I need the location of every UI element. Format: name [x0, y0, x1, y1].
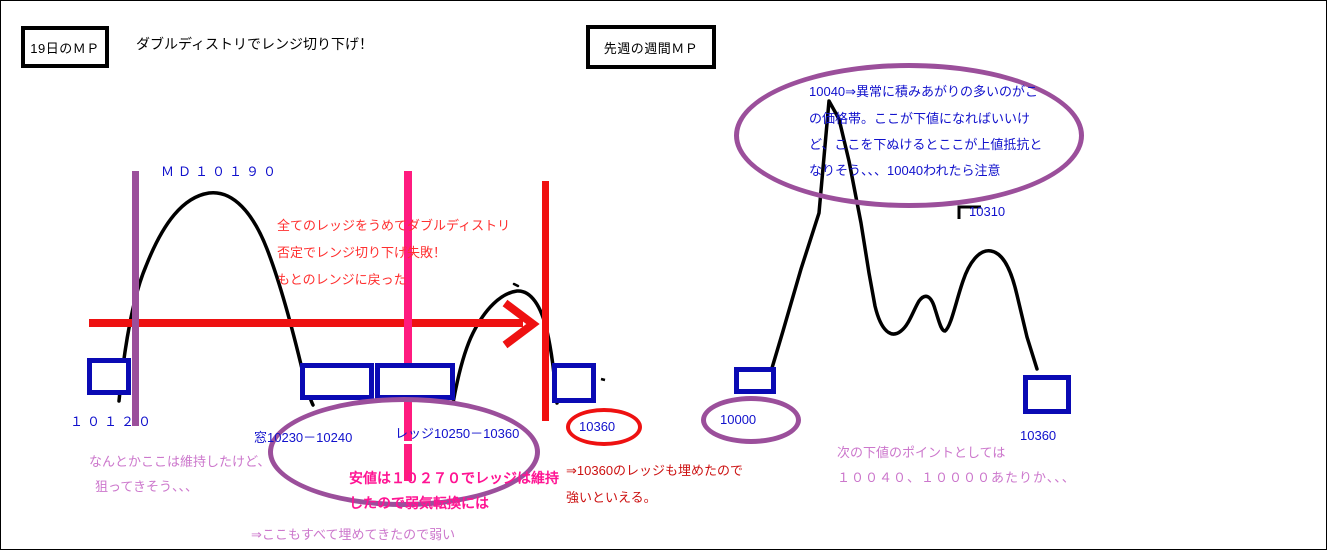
profile-box-ledge	[375, 363, 455, 400]
title-box-weekly: 先週の週間ＭＰ	[586, 25, 716, 69]
label-window-range: 窓10230－10240	[254, 427, 352, 446]
note-purple-ellipse-line-3: ど、ここを下ぬけるとここが上値抵抗と	[809, 132, 1042, 158]
note-red-line-2: 否定でレンジ切り下げ失敗！	[277, 240, 446, 266]
vline-red-10360	[542, 181, 549, 421]
note-purple-ellipse-line-2: の価格帯。ここが下値になればいいけ	[809, 106, 1030, 132]
label-10310: 10310	[969, 204, 1005, 219]
note-right-violet-line-1: 次の下値のポイントとしては	[837, 440, 1005, 466]
note-pink-line-1: 安値は１０２７０でレッジは維持	[349, 465, 559, 491]
mpbox-4-outer-tick	[601, 379, 605, 380]
profile-box-10000	[734, 367, 776, 394]
note-purple-ellipse-line-1: 10040⇒異常に積みあがりの多いのがこ	[809, 79, 1038, 105]
label-weekly-10360: 10360	[1020, 428, 1056, 443]
headline-text: ダブルディストリでレンジ切り下げ！	[136, 34, 373, 54]
vline-purple-10120	[132, 171, 139, 426]
red-range-arrow	[89, 303, 533, 345]
profile-box-window	[300, 363, 374, 400]
note-purple-ellipse-line-4: なりそう、、、10040われたら注意	[809, 158, 1001, 184]
label-ledge-range: レッジ10250－10360	[395, 423, 519, 442]
left-profile-tick	[514, 284, 518, 286]
note-red-line-1: 全てのレッジをうめてダブルディストリ	[277, 213, 510, 239]
title-box-daily: 19日のＭＰ	[21, 26, 109, 68]
annotated-market-profile-canvas: 19日のＭＰ ダブルディストリでレンジ切り下げ！ 先週の週間ＭＰ	[0, 0, 1327, 550]
profile-box-weekly-10360	[1023, 375, 1071, 414]
note-violet-line-2: 狙ってきそう、、、	[95, 474, 198, 500]
note-pink-line-2: したので弱気転換には	[349, 490, 489, 516]
label-md-10190: ＭＤ１０１９０	[161, 161, 280, 180]
profile-box-10360	[552, 363, 596, 403]
note-right-violet-line-2: １００４０、１００００あたりか、、、	[837, 465, 1076, 491]
note-violet-line-1: なんとかここは維持したけど、	[89, 449, 270, 475]
note-red-line-3: もとのレンジに戻った	[277, 267, 407, 293]
label-red-ellipse-10360: 10360	[579, 419, 615, 434]
note-violet-bottom: ⇒ここもすべて埋めてきたので弱い	[251, 522, 455, 548]
label-10120: １０１２０	[70, 411, 155, 430]
profile-box-10120	[87, 358, 131, 395]
label-ellipse-10000: 10000	[720, 412, 756, 427]
note-darkred-line-2: 強いといえる。	[566, 485, 657, 511]
note-darkred-line-1: ⇒10360のレッジも埋めたので	[566, 458, 743, 484]
